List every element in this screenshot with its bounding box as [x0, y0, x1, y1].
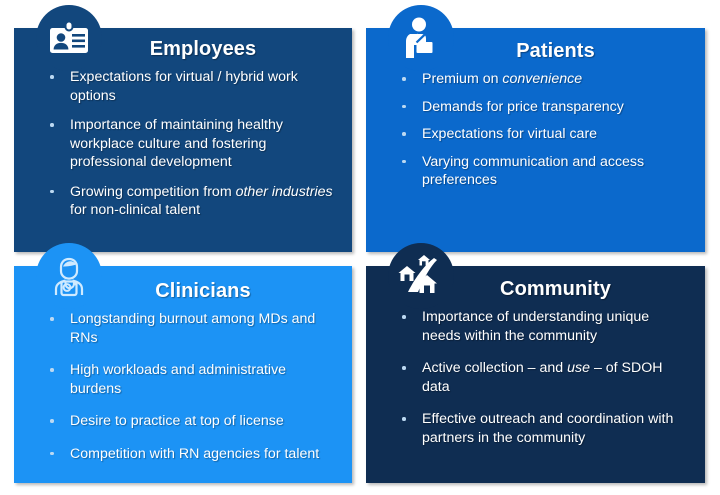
- clinician-stethoscope-icon: [36, 243, 102, 309]
- bullet-list-clinicians: Longstanding burnout among MDs and RNsHi…: [14, 310, 352, 463]
- patient-arm-sling-icon: [388, 5, 454, 71]
- bullet-dot-icon: [402, 417, 406, 421]
- bullet-text: Longstanding burnout among MDs and RNs: [70, 311, 315, 346]
- bullet-dot-icon: [402, 315, 406, 319]
- bullet-item: Importance of understanding unique needs…: [400, 308, 689, 345]
- bullet-list-community: Importance of understanding unique needs…: [366, 308, 705, 447]
- bullet-dot-icon: [402, 366, 406, 370]
- bullet-dot-icon: [50, 190, 54, 194]
- bullet-item: Demands for price transparency: [400, 98, 689, 117]
- bullet-item: Longstanding burnout among MDs and RNs: [48, 310, 336, 347]
- bullet-text: Expectations for virtual / hybrid work o…: [70, 69, 298, 104]
- bullet-item: Active collection – and use – of SDOH da…: [400, 359, 689, 396]
- bullet-item: Effective outreach and coordination with…: [400, 410, 689, 447]
- bullet-text: Competition with RN agencies for talent: [70, 446, 319, 462]
- bullet-dot-icon: [50, 368, 54, 372]
- bullet-dot-icon: [50, 123, 54, 127]
- bullet-dot-icon: [402, 132, 406, 136]
- bullet-text: Importance of understanding unique needs…: [422, 309, 649, 344]
- neighborhood-houses-icon: [388, 243, 454, 309]
- bullet-list-patients: Premium on convenienceDemands for price …: [366, 70, 705, 190]
- bullet-item: Desire to practice at top of license: [48, 412, 336, 431]
- bullet-item: Expectations for virtual care: [400, 125, 689, 144]
- bullet-item: Growing competition from other industrie…: [48, 183, 336, 220]
- bullet-text: Importance of maintaining healthy workpl…: [70, 117, 283, 170]
- bullet-dot-icon: [402, 105, 406, 109]
- bullet-dot-icon: [50, 419, 54, 423]
- four-quadrant-stakeholder-diagram: Employees Expectations for virtual / hyb…: [0, 0, 720, 495]
- bullet-text: Effective outreach and coordination with…: [422, 411, 673, 446]
- bullet-dot-icon: [402, 160, 406, 164]
- bullet-dot-icon: [50, 317, 54, 321]
- id-badge-icon: [36, 5, 102, 71]
- bullet-item: Premium on convenience: [400, 70, 689, 89]
- bullet-text: Active collection – and use – of SDOH da…: [422, 360, 663, 395]
- bullet-item: High workloads and administrative burden…: [48, 361, 336, 398]
- bullet-dot-icon: [50, 452, 54, 456]
- bullet-text: Growing competition from other industrie…: [70, 184, 333, 219]
- bullet-text: Expectations for virtual care: [422, 126, 597, 142]
- bullet-text: Premium on convenience: [422, 71, 582, 87]
- bullet-item: Expectations for virtual / hybrid work o…: [48, 68, 336, 105]
- bullet-item: Importance of maintaining healthy workpl…: [48, 116, 336, 172]
- bullet-dot-icon: [402, 77, 406, 81]
- bullet-text: High workloads and administrative burden…: [70, 362, 286, 397]
- bullet-item: Competition with RN agencies for talent: [48, 445, 336, 464]
- bullet-dot-icon: [50, 75, 54, 79]
- bullet-text: Demands for price transparency: [422, 99, 624, 115]
- bullet-list-employees: Expectations for virtual / hybrid work o…: [14, 68, 352, 220]
- bullet-item: Varying communication and access prefere…: [400, 153, 689, 190]
- bullet-text: Varying communication and access prefere…: [422, 154, 644, 189]
- bullet-text: Desire to practice at top of license: [70, 413, 284, 429]
